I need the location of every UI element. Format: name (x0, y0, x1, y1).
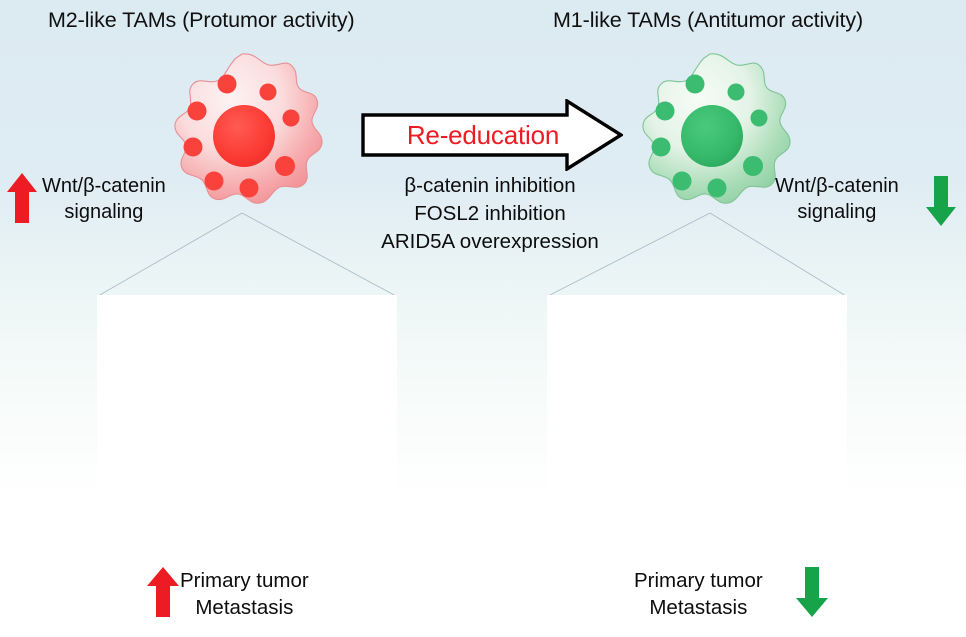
treatment-item-2: ARID5A overexpression (330, 228, 650, 256)
outcome-label-right: Primary tumor Metastasis (634, 567, 763, 622)
down-arrow-green-signaling-icon (925, 175, 957, 227)
outcome-left-line2: Metastasis (180, 594, 309, 621)
up-arrow-red-outcome-icon (146, 566, 180, 618)
outcome-right-line2: Metastasis (634, 594, 763, 621)
lung-panel-left-background (97, 295, 397, 557)
treatment-item-1: FOSL2 inhibition (330, 200, 650, 228)
signaling-left-line2: signaling (42, 199, 166, 225)
up-arrow-red-signaling-icon (6, 172, 38, 224)
lung-panel-right (547, 295, 847, 557)
outcome-left-line1: Primary tumor (180, 567, 309, 594)
treatment-list: β-catenin inhibition FOSL2 inhibition AR… (330, 172, 650, 256)
lung-panel-right-background (547, 295, 847, 557)
signaling-left-line1: Wnt/β-catenin (42, 173, 166, 199)
diagram-canvas: M2-like TAMs (Protumor activity) M1-like… (0, 0, 966, 637)
heading-m2-column: M2-like TAMs (Protumor activity) (48, 8, 355, 33)
outcome-right-line1: Primary tumor (634, 567, 763, 594)
signaling-label-left: Wnt/β-catenin signaling (42, 173, 166, 226)
signaling-right-line2: signaling (775, 199, 899, 225)
re-education-label: Re-education (383, 109, 583, 161)
lung-panel-left (97, 295, 397, 557)
outcome-label-left: Primary tumor Metastasis (180, 567, 309, 622)
heading-m1-column: M1-like TAMs (Antitumor activity) (553, 8, 863, 33)
signaling-label-right: Wnt/β-catenin signaling (775, 173, 899, 226)
macrophage-cell-m2-icon (156, 48, 328, 220)
down-arrow-green-outcome-icon (795, 566, 829, 618)
signaling-right-line1: Wnt/β-catenin (775, 173, 899, 199)
treatment-item-0: β-catenin inhibition (330, 172, 650, 200)
